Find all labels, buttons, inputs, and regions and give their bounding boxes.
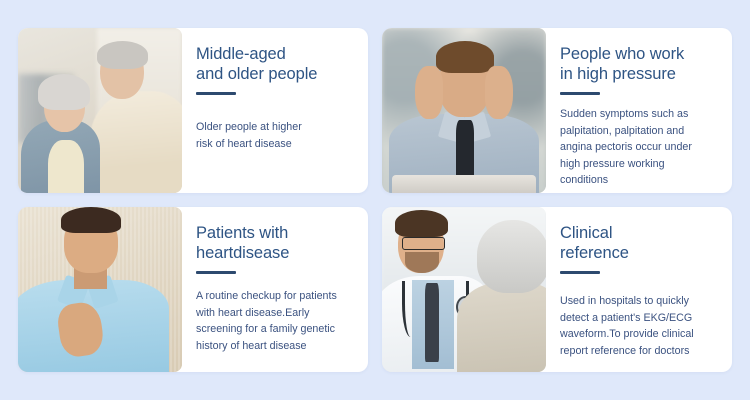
card-text-pane: Patients with heartdisease A routine che… — [182, 207, 368, 372]
elderly-couple-photo — [18, 28, 182, 193]
card-description: Sudden symptoms such as palpitation, pal… — [560, 106, 720, 189]
title-divider — [196, 271, 236, 274]
feature-card-grid: Middle-aged and older people Older peopl… — [0, 0, 750, 400]
card-patients-with-heart-disease[interactable]: Patients with heartdisease A routine che… — [18, 207, 368, 372]
doctor-patient-photo — [382, 207, 546, 372]
card-text-pane: Clinical reference Used in hospitals to … — [546, 207, 732, 372]
card-middle-aged-and-older-people[interactable]: Middle-aged and older people Older peopl… — [18, 28, 368, 193]
card-title: Clinical reference — [560, 223, 720, 263]
card-title: Patients with heartdisease — [196, 223, 356, 263]
card-text-pane: Middle-aged and older people Older peopl… — [182, 28, 368, 193]
card-title: People who work in high pressure — [560, 44, 720, 84]
card-description: A routine checkup for patients with hear… — [196, 288, 356, 354]
chest-pain-photo — [18, 207, 182, 372]
card-text-pane: People who work in high pressure Sudden … — [546, 28, 732, 193]
title-divider — [560, 271, 600, 274]
card-title: Middle-aged and older people — [196, 44, 356, 84]
card-description: Used in hospitals to quickly detect a pa… — [560, 293, 720, 359]
stressed-man-photo — [382, 28, 546, 193]
card-people-who-work-in-high-pressure[interactable]: People who work in high pressure Sudden … — [382, 28, 732, 193]
title-divider — [560, 92, 600, 95]
title-divider — [196, 92, 236, 95]
card-clinical-reference[interactable]: Clinical reference Used in hospitals to … — [382, 207, 732, 372]
card-description: Older people at higher risk of heart dis… — [196, 119, 356, 152]
